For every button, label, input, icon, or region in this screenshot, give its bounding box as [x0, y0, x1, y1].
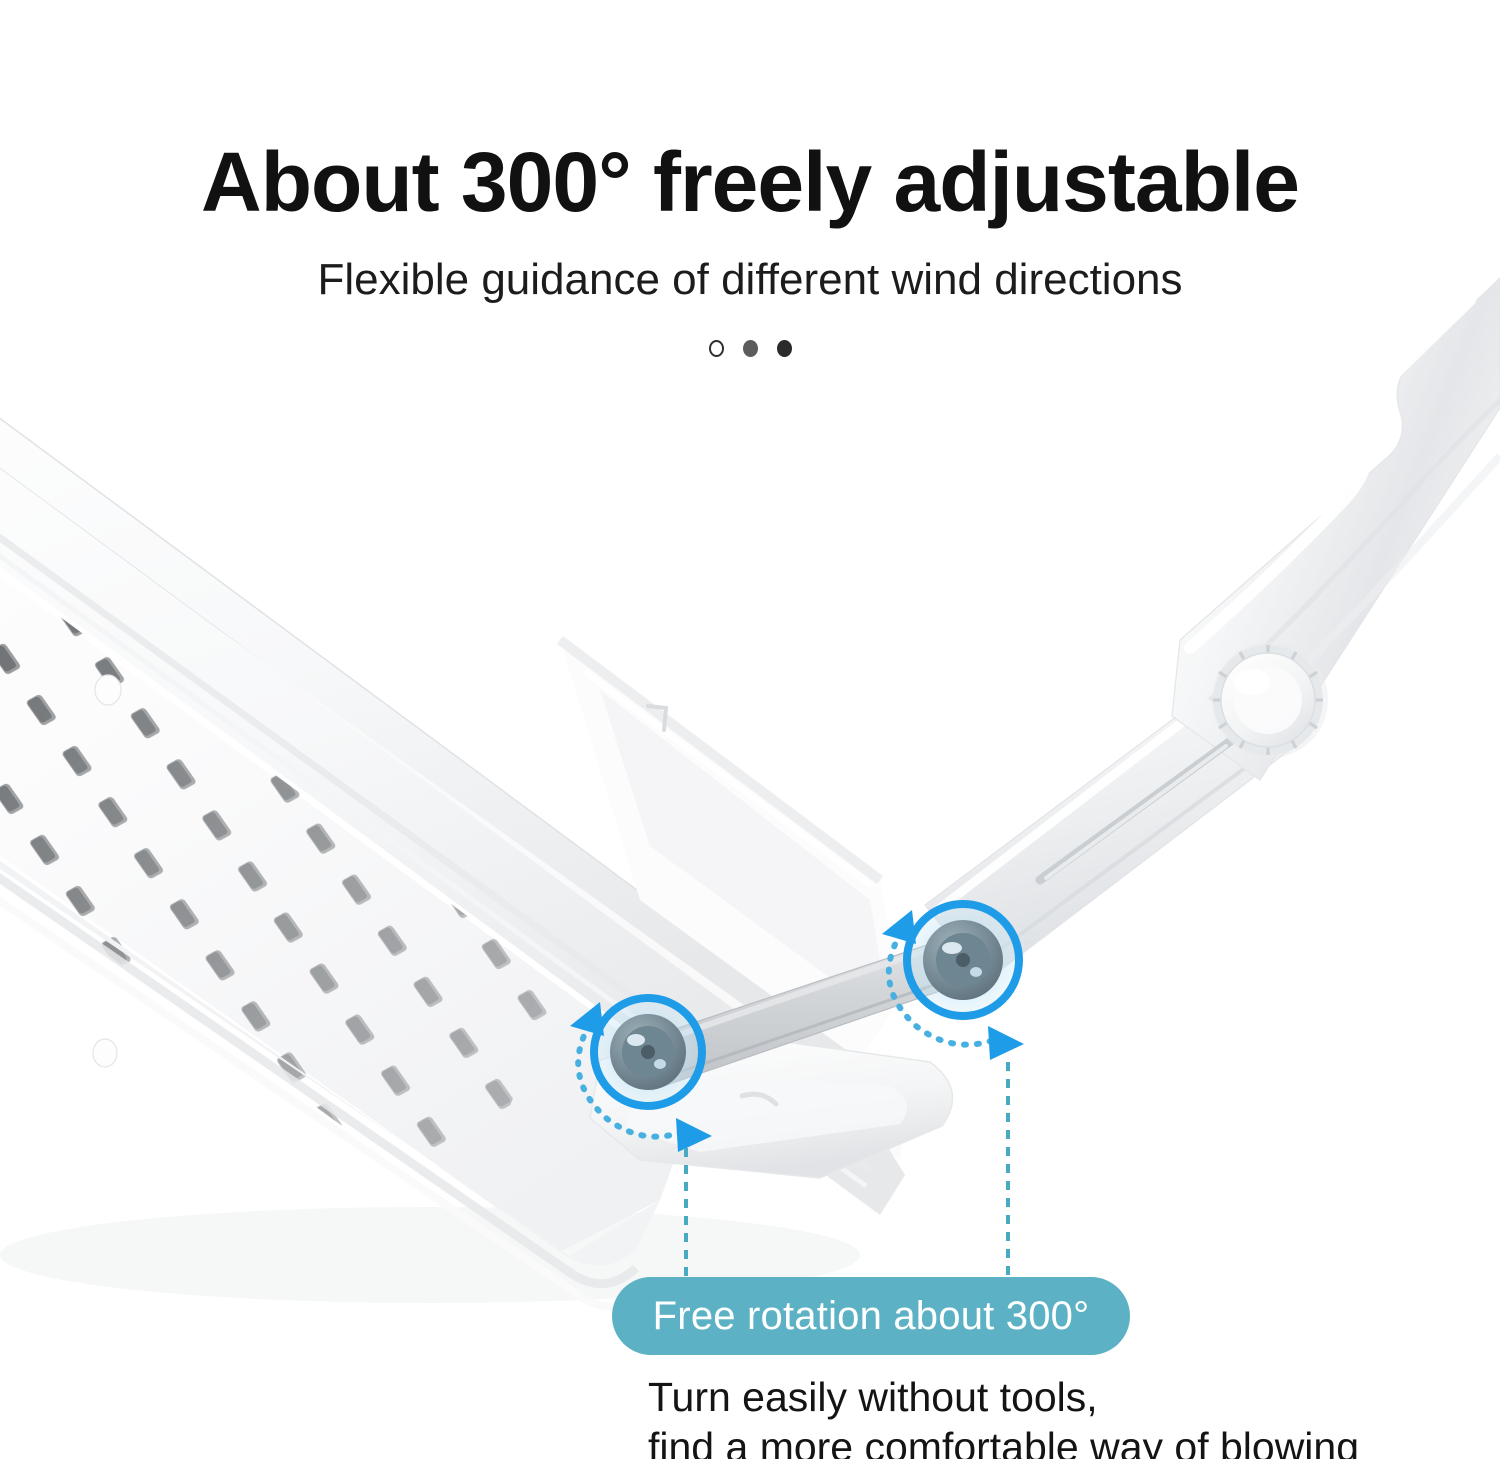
page-subtitle: Flexible guidance of different wind dire… — [0, 256, 1500, 304]
page-title: About 300° freely adjustable — [0, 138, 1500, 226]
callout-badge-label: Free rotation about 300° — [653, 1294, 1090, 1339]
carousel-dot-2[interactable] — [743, 340, 758, 357]
rotation-arrow-upper-end — [988, 1026, 1024, 1060]
knurled-tightening-knob — [1212, 642, 1328, 758]
product-feature-slide: About 300° freely adjustable Flexible gu… — [0, 0, 1500, 1459]
adjustable-support-arm — [925, 278, 1500, 982]
panel-peg-upper — [95, 675, 121, 705]
carousel-indicator[interactable] — [0, 340, 1500, 357]
callout-badge: Free rotation about 300° — [612, 1277, 1130, 1355]
caption-line-1: Turn easily without tools, — [648, 1372, 1468, 1422]
carousel-dot-1[interactable] — [709, 340, 724, 357]
callout-caption: Turn easily without tools, find a more c… — [648, 1372, 1468, 1459]
carousel-dot-3[interactable] — [777, 340, 792, 357]
panel-peg-lower — [93, 1039, 117, 1067]
caption-line-2: find a more comfortable way of blowing — [648, 1422, 1468, 1459]
